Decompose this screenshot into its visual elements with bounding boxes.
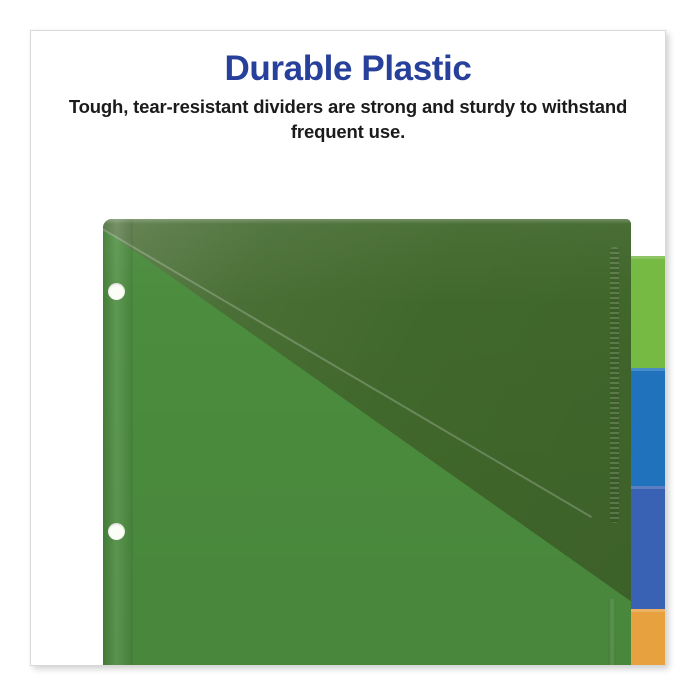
sheet-top-highlight <box>103 219 631 224</box>
tab-indigo <box>624 486 666 609</box>
binding-edge-band <box>103 219 133 666</box>
product-image-canvas: Durable Plastic Tough, tear-resistant di… <box>0 0 700 700</box>
page-subtitle: Tough, tear-resistant dividers are stron… <box>68 95 628 144</box>
tab-orange <box>624 609 666 666</box>
flap-sheen-overlay <box>103 219 631 666</box>
marketing-copy-block: Durable Plastic Tough, tear-resistant di… <box>31 49 665 144</box>
diagonal-pocket-flap <box>103 219 631 666</box>
ribbed-hinge-strip <box>610 247 619 523</box>
tab-lime <box>624 256 666 368</box>
green-divider-sheet <box>103 219 631 666</box>
page-title: Durable Plastic <box>31 49 665 88</box>
product-card-frame: Durable Plastic Tough, tear-resistant di… <box>30 30 666 666</box>
lower-pocket-seam <box>608 599 616 666</box>
diagonal-fold-line <box>103 227 592 518</box>
sheet-shading-overlay <box>103 219 631 666</box>
tab-blue <box>624 368 666 486</box>
punch-hole <box>108 523 125 540</box>
punch-hole <box>108 283 125 300</box>
